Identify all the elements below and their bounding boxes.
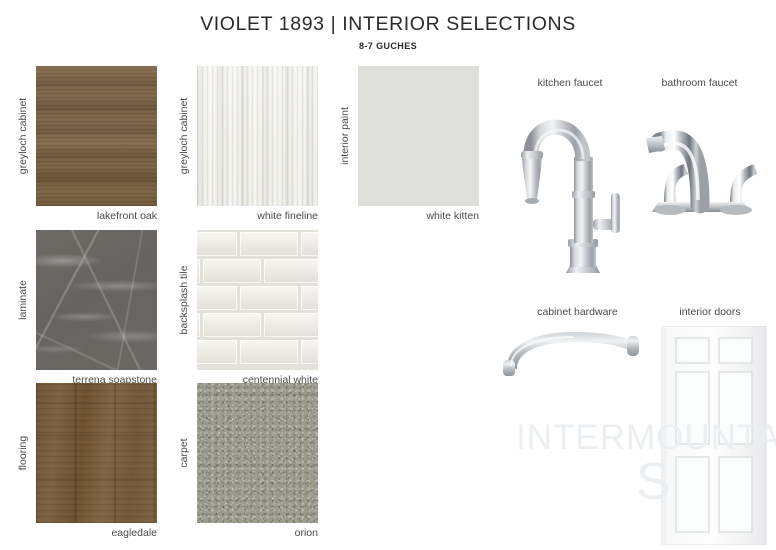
- bathroom-faucet-icon[interactable]: [622, 92, 772, 222]
- swatch-category-label: laminate: [14, 230, 32, 370]
- swatch-image-orion: [197, 383, 318, 523]
- swatch-image-centennial-white: [197, 230, 318, 370]
- swatch-card-lakefront-oak[interactable]: greyloch cabinet lakefront oak: [14, 66, 164, 226]
- six-panel-door-icon[interactable]: [658, 326, 770, 545]
- swatch-category-label: greyloch cabinet: [175, 66, 193, 206]
- swatch-name-label: orion: [175, 527, 318, 539]
- swatch-category-label: interior paint: [336, 66, 354, 206]
- kitchen-faucet-icon[interactable]: [498, 95, 633, 285]
- swatch-card-white-kitten[interactable]: interior paint white kitten: [336, 66, 486, 226]
- product-label-cabinet-hardware: cabinet hardware: [505, 306, 650, 318]
- page-title: VIOLET 1893 | INTERIOR SELECTIONS: [0, 13, 776, 36]
- swatch-category-label: carpet: [175, 383, 193, 523]
- swatch-name-label: white kitten: [336, 210, 479, 222]
- page-subtitle: 8-7 GUCHES: [0, 41, 776, 51]
- swatch-category-label: backsplash tile: [175, 230, 193, 370]
- swatch-image-terrena-soapstone: [36, 230, 157, 370]
- swatch-name-label: lakefront oak: [14, 210, 157, 222]
- swatch-image-lakefront-oak: [36, 66, 157, 206]
- swatch-card-white-fineline[interactable]: greyloch cabinet white fineline: [175, 66, 325, 226]
- swatch-card-terrena-soapstone[interactable]: laminate terrena soapstone: [14, 230, 164, 390]
- swatch-image-eagledale: [36, 383, 157, 523]
- swatch-image-white-kitten: [358, 66, 479, 206]
- swatch-card-centennial-white[interactable]: backsplash tile centennial white: [175, 230, 325, 390]
- product-label-interior-doors: interior doors: [650, 306, 770, 318]
- material-swatch-grid: greyloch cabinet lakefront oak greyloch …: [0, 66, 505, 536]
- swatch-category-label: flooring: [14, 383, 32, 523]
- swatch-image-white-fineline: [197, 66, 318, 206]
- swatch-card-eagledale[interactable]: flooring eagledale: [14, 383, 164, 543]
- page-header: VIOLET 1893 | INTERIOR SELECTIONS 8-7 GU…: [0, 0, 776, 51]
- swatch-name-label: eagledale: [14, 527, 157, 539]
- cabinet-pull-icon[interactable]: [495, 322, 665, 377]
- swatch-card-orion[interactable]: carpet orion: [175, 383, 325, 543]
- product-label-kitchen-faucet: kitchen faucet: [505, 77, 635, 89]
- swatch-name-label: white fineline: [175, 210, 318, 222]
- swatch-category-label: greyloch cabinet: [14, 66, 32, 206]
- product-label-bathroom-faucet: bathroom faucet: [632, 77, 767, 89]
